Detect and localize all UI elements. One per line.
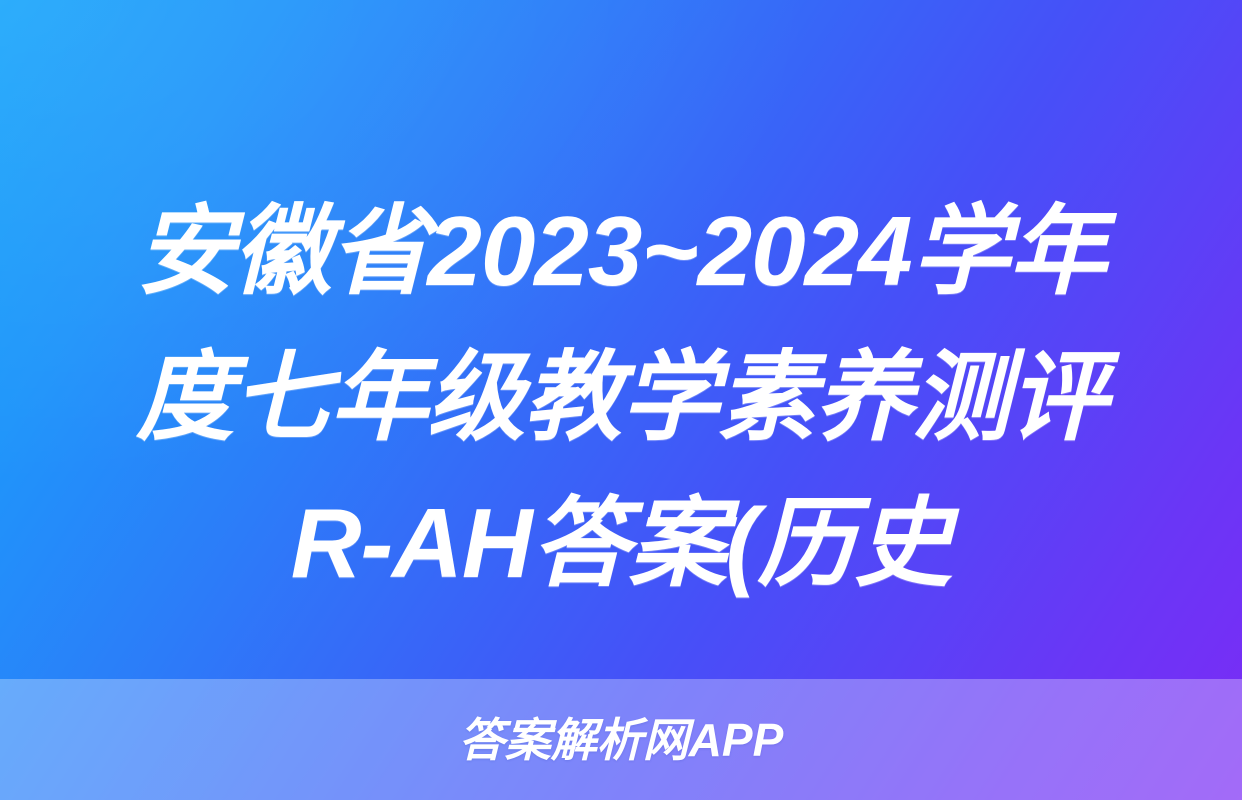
- title-line-2: 度七年级教学素养测评: [24, 324, 1218, 470]
- page-title: 安徽省2023~2024学年 度七年级教学素养测评 R-AH答案(历史: [0, 178, 1242, 616]
- title-line-1: 安徽省2023~2024学年: [24, 178, 1218, 324]
- poster-card: 安徽省2023~2024学年 度七年级教学素养测评 R-AH答案(历史 答案解析…: [0, 0, 1242, 800]
- title-line-3: R-AH答案(历史: [24, 470, 1218, 616]
- watermark-text: 答案解析网APP: [459, 717, 784, 763]
- watermark-band: 答案解析网APP: [0, 679, 1242, 800]
